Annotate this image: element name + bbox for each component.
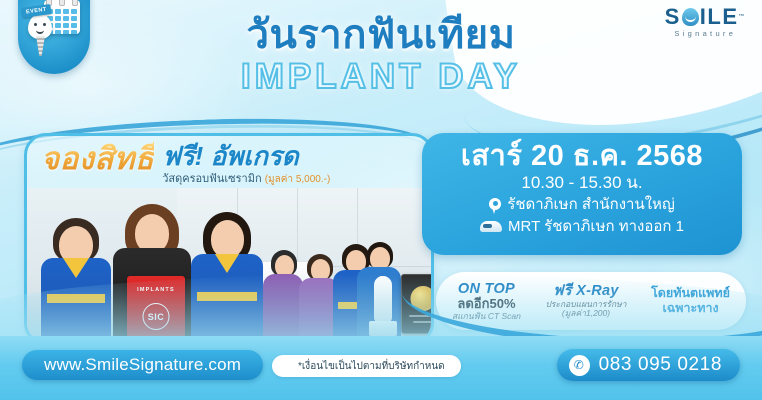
event-location-row: รัชดาภิเษก สำนักงานใหญ่ (422, 195, 742, 215)
phone-number: 083 095 0218 (599, 354, 722, 376)
offer-subtitle: วัสดุครอบฟันเซรามิก (มูลค่า 5,000.-) (162, 169, 330, 187)
terms-disclaimer: *เงื่อนไขเป็นไปตามที่บริษัทกำหนด (272, 355, 461, 377)
mrt-train-icon (480, 220, 502, 234)
promo-banner: EVENT S ILE ™ Signature วันรากฟันเทียม I… (0, 0, 762, 400)
event-date: เสาร์ 20 ธ.ค. 2568 (422, 139, 742, 174)
offer-headline-gold: จองสิทธิ์ (41, 142, 154, 176)
event-transit-row: MRT รัชดาภิเษก ทางออก 1 (422, 217, 742, 237)
offer-subtitle-text: วัสดุครอบฟันเซรามิก (162, 173, 261, 185)
event-details-panel: เสาร์ 20 ธ.ค. 2568 10.30 - 15.30 น. รัชด… (422, 133, 742, 255)
phone-icon: ✆ (569, 355, 590, 376)
offer-headline-block: ฟรี! อัพเกรด วัสดุครอบฟันเซรามิก (มูลค่า… (162, 143, 330, 187)
page-title-thai: วันรากฟันเทียม (0, 14, 762, 56)
offer-headline-row: จองสิทธิ์ ฟรี! อัพเกรด วัสดุครอบฟันเซราม… (27, 142, 431, 187)
website-link[interactable]: www.SmileSignature.com (22, 350, 263, 380)
calendar-rings-icon (46, 0, 78, 6)
headline-group: วันรากฟันเทียม IMPLANT DAY (0, 14, 762, 97)
offer-headline-blue: ฟรี! อัพเกรด (162, 143, 330, 170)
phone-button[interactable]: ✆ 083 095 0218 (557, 349, 740, 381)
location-pin-icon (489, 198, 501, 214)
page-title-english: IMPLANT DAY (0, 58, 762, 97)
event-location-text: รัชดาภิเษก สำนักงานใหญ่ (507, 195, 674, 215)
event-time: 10.30 - 15.30 น. (422, 172, 742, 194)
offer-value-text: (มูลค่า 5,000.-) (265, 174, 331, 185)
event-transit-text: MRT รัชดาภิเษก ทางออก 1 (508, 217, 684, 237)
